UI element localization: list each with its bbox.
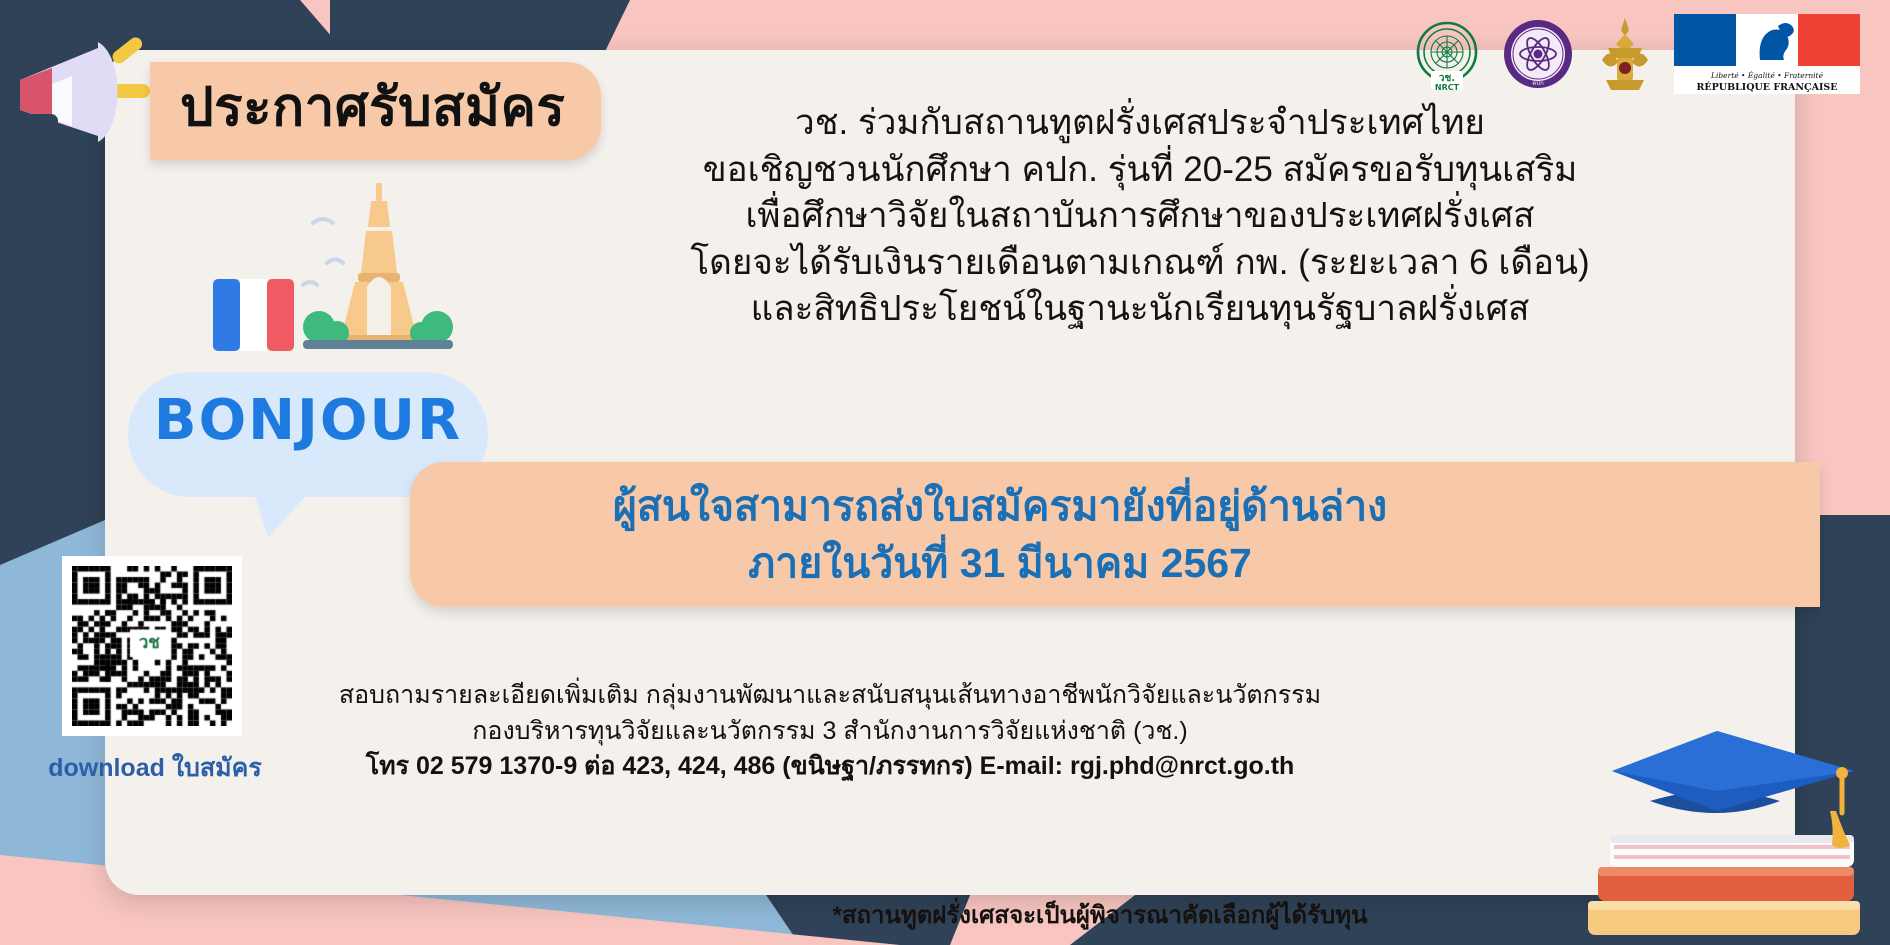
deadline-text-group: ผู้สนใจสามารถส่งใบสมัครมายังที่อยู่ด้านล… <box>440 478 1560 591</box>
title-badge-label: ประกาศรับสมัคร <box>180 80 565 136</box>
body-line-1: วช. ร่วมกับสถานทูตฝรั่งเศสประจำประเทศไทย <box>500 100 1780 147</box>
rgj-logo-abbr: คปก <box>1532 80 1544 87</box>
deadline-line-1: ผู้สนใจสามารถส่งใบสมัครมายังที่อยู่ด้านล… <box>440 478 1560 535</box>
qr-code-caption: download ใบสมัคร <box>30 748 280 788</box>
france-logo-title: RÉPUBLIQUE FRANÇAISE <box>1697 81 1838 93</box>
contact-line-1: สอบถามรายละเอียดเพิ่มเติม กลุ่มงานพัฒนาแ… <box>300 678 1360 714</box>
title-badge: ประกาศรับสมัคร <box>150 62 601 160</box>
logo-row: วช. NRCT คปก <box>1408 14 1860 94</box>
france-logo-motto: Liberté • Égalité • Fraternité <box>1710 71 1824 80</box>
announcement-body: วช. ร่วมกับสถานทูตฝรั่งเศสประจำประเทศไทย… <box>500 100 1780 333</box>
body-line-4: โดยจะได้รับเงินรายเดือนตามเกณฑ์ กพ. (ระย… <box>500 240 1780 287</box>
france-embassy-logo: Liberté • Égalité • Fraternité RÉPUBLIQU… <box>1674 14 1860 94</box>
body-line-3: เพื่อศึกษาวิจัยในสถาบันการศึกษาของประเทศ… <box>500 193 1780 240</box>
qr-code[interactable] <box>62 556 242 736</box>
bonjour-label: BONJOUR <box>128 388 488 453</box>
body-line-5: และสิทธิประโยชน์ในฐานะนักเรียนทุนรัฐบาลฝ… <box>500 286 1780 333</box>
contact-line-2: กองบริหารทุนวิจัยและนวัตกรรม 3 สำนักงานก… <box>300 714 1360 750</box>
nrct-logo: วช. NRCT <box>1408 15 1486 93</box>
footnote: *สถานทูตฝรั่งเศสจะเป็นผู้พิจารณาคัดเลือก… <box>700 895 1500 934</box>
graduation-books-illustration <box>1554 715 1884 945</box>
contact-line-3: โทร 02 579 1370-9 ต่อ 423, 424, 486 (ขนิ… <box>300 749 1360 785</box>
qr-code-image <box>72 566 232 726</box>
nrct-logo-sub: NRCT <box>1435 83 1460 92</box>
deadline-line-2: ภายในวันที่ 31 มีนาคม 2567 <box>440 535 1560 592</box>
rgj-logo: คปก <box>1500 16 1576 92</box>
body-line-2: ขอเชิญชวนนักศึกษา คปก. รุ่นที่ 20-25 สมั… <box>500 147 1780 194</box>
contact-block: สอบถามรายละเอียดเพิ่มเติม กลุ่มงานพัฒนาแ… <box>300 678 1360 785</box>
eiffel-tower-illustration <box>185 175 515 390</box>
royal-emblem-logo <box>1590 14 1660 94</box>
